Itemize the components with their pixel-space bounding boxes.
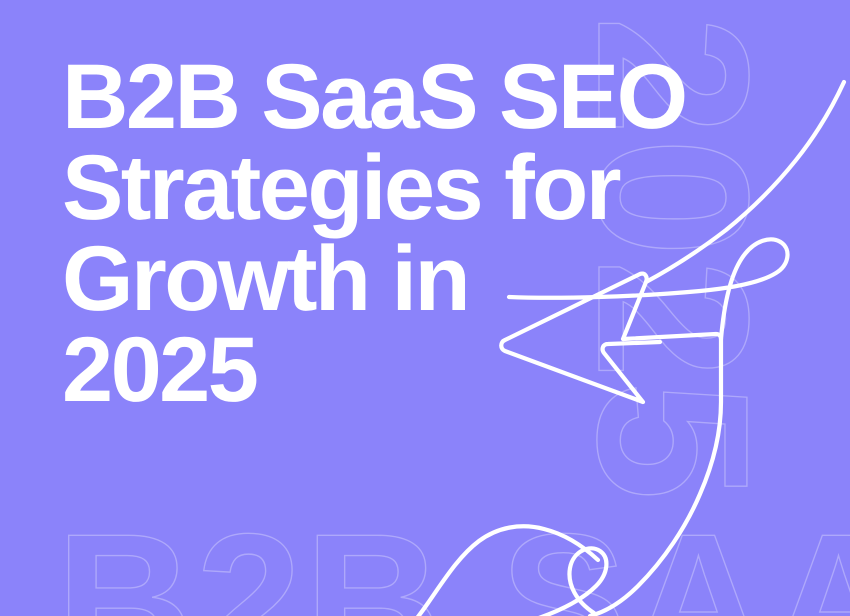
watermark-b2b-saas: B2B SAAS (56, 506, 850, 616)
poster-canvas: 2025 B2B SAAS B2B SaaS SEO Strategies fo… (0, 0, 850, 616)
page-title: B2B SaaS SEO Strategies for Growth in 20… (62, 52, 702, 416)
